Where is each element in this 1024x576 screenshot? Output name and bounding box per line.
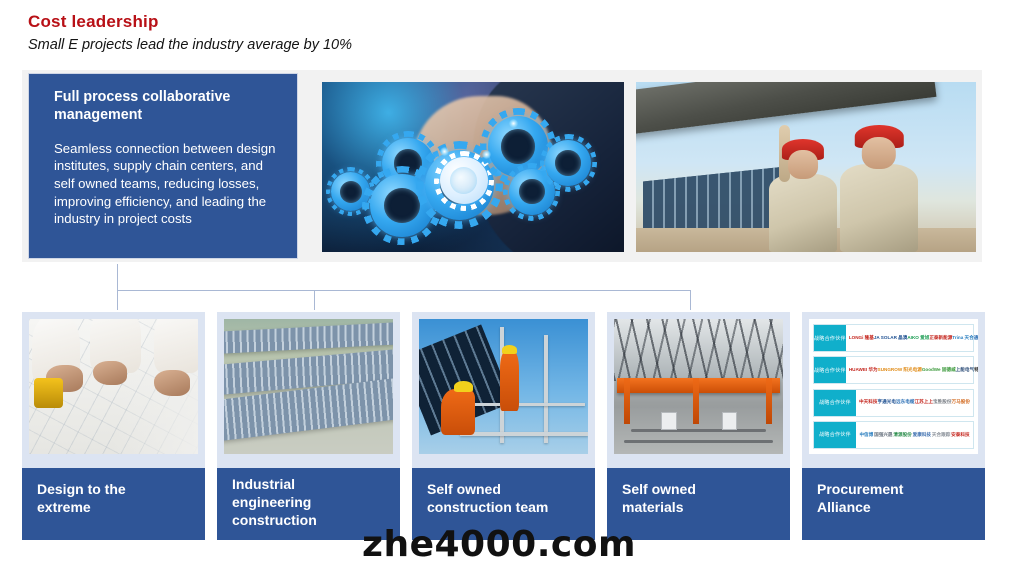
card-self-owned-materials[interactable]: Self owned materials (607, 312, 790, 540)
worker-figure (769, 174, 837, 252)
blueprint-review-photo (29, 319, 198, 454)
worker-body (840, 164, 918, 252)
connector-drop (690, 290, 691, 310)
tape-measure (34, 378, 63, 408)
gear-icon (440, 157, 488, 205)
hand-shape (154, 370, 189, 396)
slide-root: Cost leadership Small E projects lead th… (0, 0, 1024, 576)
logo-row-tag: 战略合作伙伴 (814, 325, 846, 351)
card-label-line: Self owned (427, 481, 595, 499)
supplier-logo: 江苏上上 (915, 400, 933, 405)
logo-row-logos: 中天科技 亨通光电 远东电缆 江苏上上 宝胜股份 万马股份 (856, 400, 973, 405)
supplier-logo: 国强兴晟 (874, 433, 892, 438)
card-label-line: extreme (37, 499, 205, 517)
card-label-line: Alliance (817, 499, 985, 517)
supplier-logo: 通威股份 (974, 336, 978, 341)
light-spark (482, 150, 491, 159)
logo-row-tag: 战略合作伙伴 (814, 390, 856, 416)
card-label-line: Industrial (232, 476, 400, 494)
logo-row-tag: 战略合作伙伴 (814, 357, 846, 383)
card-label-design-to-the-extreme: Design to the extreme (22, 468, 205, 540)
card-label-line: Procurement (817, 481, 985, 499)
crane-leg (693, 378, 699, 424)
production-cart (722, 412, 737, 430)
scaffold-bar (460, 432, 588, 436)
supplier-logo: 远东电缆 (896, 400, 914, 405)
scaffold-bar (544, 335, 548, 443)
supplier-logo: 特变电工 (974, 368, 978, 373)
supplier-logo: 宝胜股份 (933, 400, 951, 405)
supplier-logo: LONGi 隆基 (849, 336, 874, 341)
logo-row: 战略合作伙伴 中信博 国强兴晟 清源股份 爱康科技 天合跟踪 安泰科技 (813, 421, 974, 449)
connector-stem (117, 264, 118, 310)
solar-installation-crew-photo (419, 319, 588, 454)
gear-icon (545, 140, 590, 186)
card-label-line: Design to the (37, 481, 205, 499)
scaffold-bar (470, 403, 585, 406)
card-procurement-alliance[interactable]: 战略合作伙伴 LONGi 隆基 JA SOLAR 晶澳 AIKO 爱旭 正泰新能… (802, 312, 985, 540)
supplier-logo: Trina 天合 (952, 336, 973, 341)
blueprint-surface (29, 319, 198, 454)
supplier-logo: 上能电气 (956, 368, 974, 373)
hero-panel-body: Seamless connection between design insti… (54, 140, 279, 228)
production-cart (661, 412, 676, 430)
rooftop-solar-factory-photo (224, 319, 393, 454)
hero-text-panel: Full process collaborative management Se… (28, 73, 298, 259)
person-shape (154, 319, 198, 373)
gears-handshake-photo (322, 82, 624, 252)
connector-drop (314, 290, 315, 310)
card-label-procurement-alliance: Procurement Alliance (802, 468, 985, 540)
supplier-logo: 亨通光电 (878, 400, 896, 405)
watermark: zhe4000.com (362, 524, 636, 565)
supplier-logo: 安泰科技 (951, 433, 969, 438)
supplier-logo: 正泰新能源 (929, 336, 952, 341)
rooftop-surface (224, 319, 393, 454)
logo-row-tag: 战略合作伙伴 (814, 422, 856, 448)
roof-truss (614, 319, 783, 381)
logo-row: 战略合作伙伴 HUAWEI 华为 SUNGROW 阳光电源 GoodWe 固德威… (813, 356, 974, 384)
supplier-logo: 爱康科技 (913, 433, 931, 438)
card-label-line: Self owned (622, 481, 790, 499)
worker-head (788, 150, 818, 178)
card-design-to-the-extreme[interactable]: Design to the extreme (22, 312, 205, 540)
manufacturing-plant-photo (614, 319, 783, 454)
scaffold-scene (419, 319, 588, 454)
supplier-logo: 天合跟踪 (932, 433, 950, 438)
logo-wall-grid: 战略合作伙伴 LONGi 隆基 JA SOLAR 晶澳 AIKO 爱旭 正泰新能… (809, 319, 978, 454)
card-label-line: engineering (232, 494, 400, 512)
logo-row: 战略合作伙伴 LONGi 隆基 JA SOLAR 晶澳 AIKO 爱旭 正泰新能… (813, 324, 974, 352)
supplier-logo: 中信博 (859, 433, 873, 438)
card-label-line: construction team (427, 499, 595, 517)
supplier-logo: GoodWe 固德威 (922, 368, 956, 373)
supplier-logo: AIKO 爱旭 (907, 336, 929, 341)
yellow-helmet (502, 345, 517, 354)
supplier-logo: 万马股份 (952, 400, 970, 405)
floor-rail (624, 440, 773, 443)
supplier-logo: SUNGROW 阳光电源 (878, 368, 922, 373)
worker-figure (840, 164, 918, 252)
hero-panel-heading: Full process collaborative management (54, 88, 279, 125)
crane-leg (766, 378, 772, 424)
worker-body (769, 174, 837, 252)
factory-interior (614, 319, 783, 454)
supplier-logo: HUAWEI 华为 (849, 368, 878, 373)
crane-leg (624, 378, 630, 424)
card-self-owned-construction-team[interactable]: Self owned construction team (412, 312, 595, 540)
logo-row-logos: HUAWEI 华为 SUNGROW 阳光电源 GoodWe 固德威 上能电气 特… (846, 368, 978, 373)
solar-workers-photo (636, 82, 976, 252)
logo-row: 战略合作伙伴 中天科技 亨通光电 远东电缆 江苏上上 宝胜股份 万马股份 (813, 389, 974, 417)
logo-row-logos: LONGi 隆基 JA SOLAR 晶澳 AIKO 爱旭 正泰新能源 Trina… (846, 336, 978, 341)
floor-rail (631, 429, 766, 432)
pv-rooftop (224, 322, 393, 354)
page-title: Cost leadership (28, 12, 159, 32)
connector-bar (117, 290, 690, 291)
hand-shape (93, 361, 127, 385)
worker-head (862, 137, 896, 169)
page-subtitle: Small E projects lead the industry avera… (28, 37, 352, 53)
orange-worker (441, 389, 475, 435)
yellow-helmet (454, 381, 473, 392)
card-label-line: materials (622, 499, 790, 517)
supplier-logo-wall: 战略合作伙伴 LONGi 隆基 JA SOLAR 晶澳 AIKO 爱旭 正泰新能… (809, 319, 978, 454)
supplier-logo: 中天科技 (859, 400, 877, 405)
supplier-logo: 清源股份 (893, 433, 911, 438)
logo-row-logos: 中信博 国强兴晟 清源股份 爱康科技 天合跟踪 安泰科技 (856, 433, 973, 438)
card-industrial-engineering-construction[interactable]: Industrial engineering construction (217, 312, 400, 540)
light-spark (440, 147, 449, 156)
orange-worker (500, 351, 519, 410)
supplier-logo: JA SOLAR 晶澳 (874, 336, 908, 341)
